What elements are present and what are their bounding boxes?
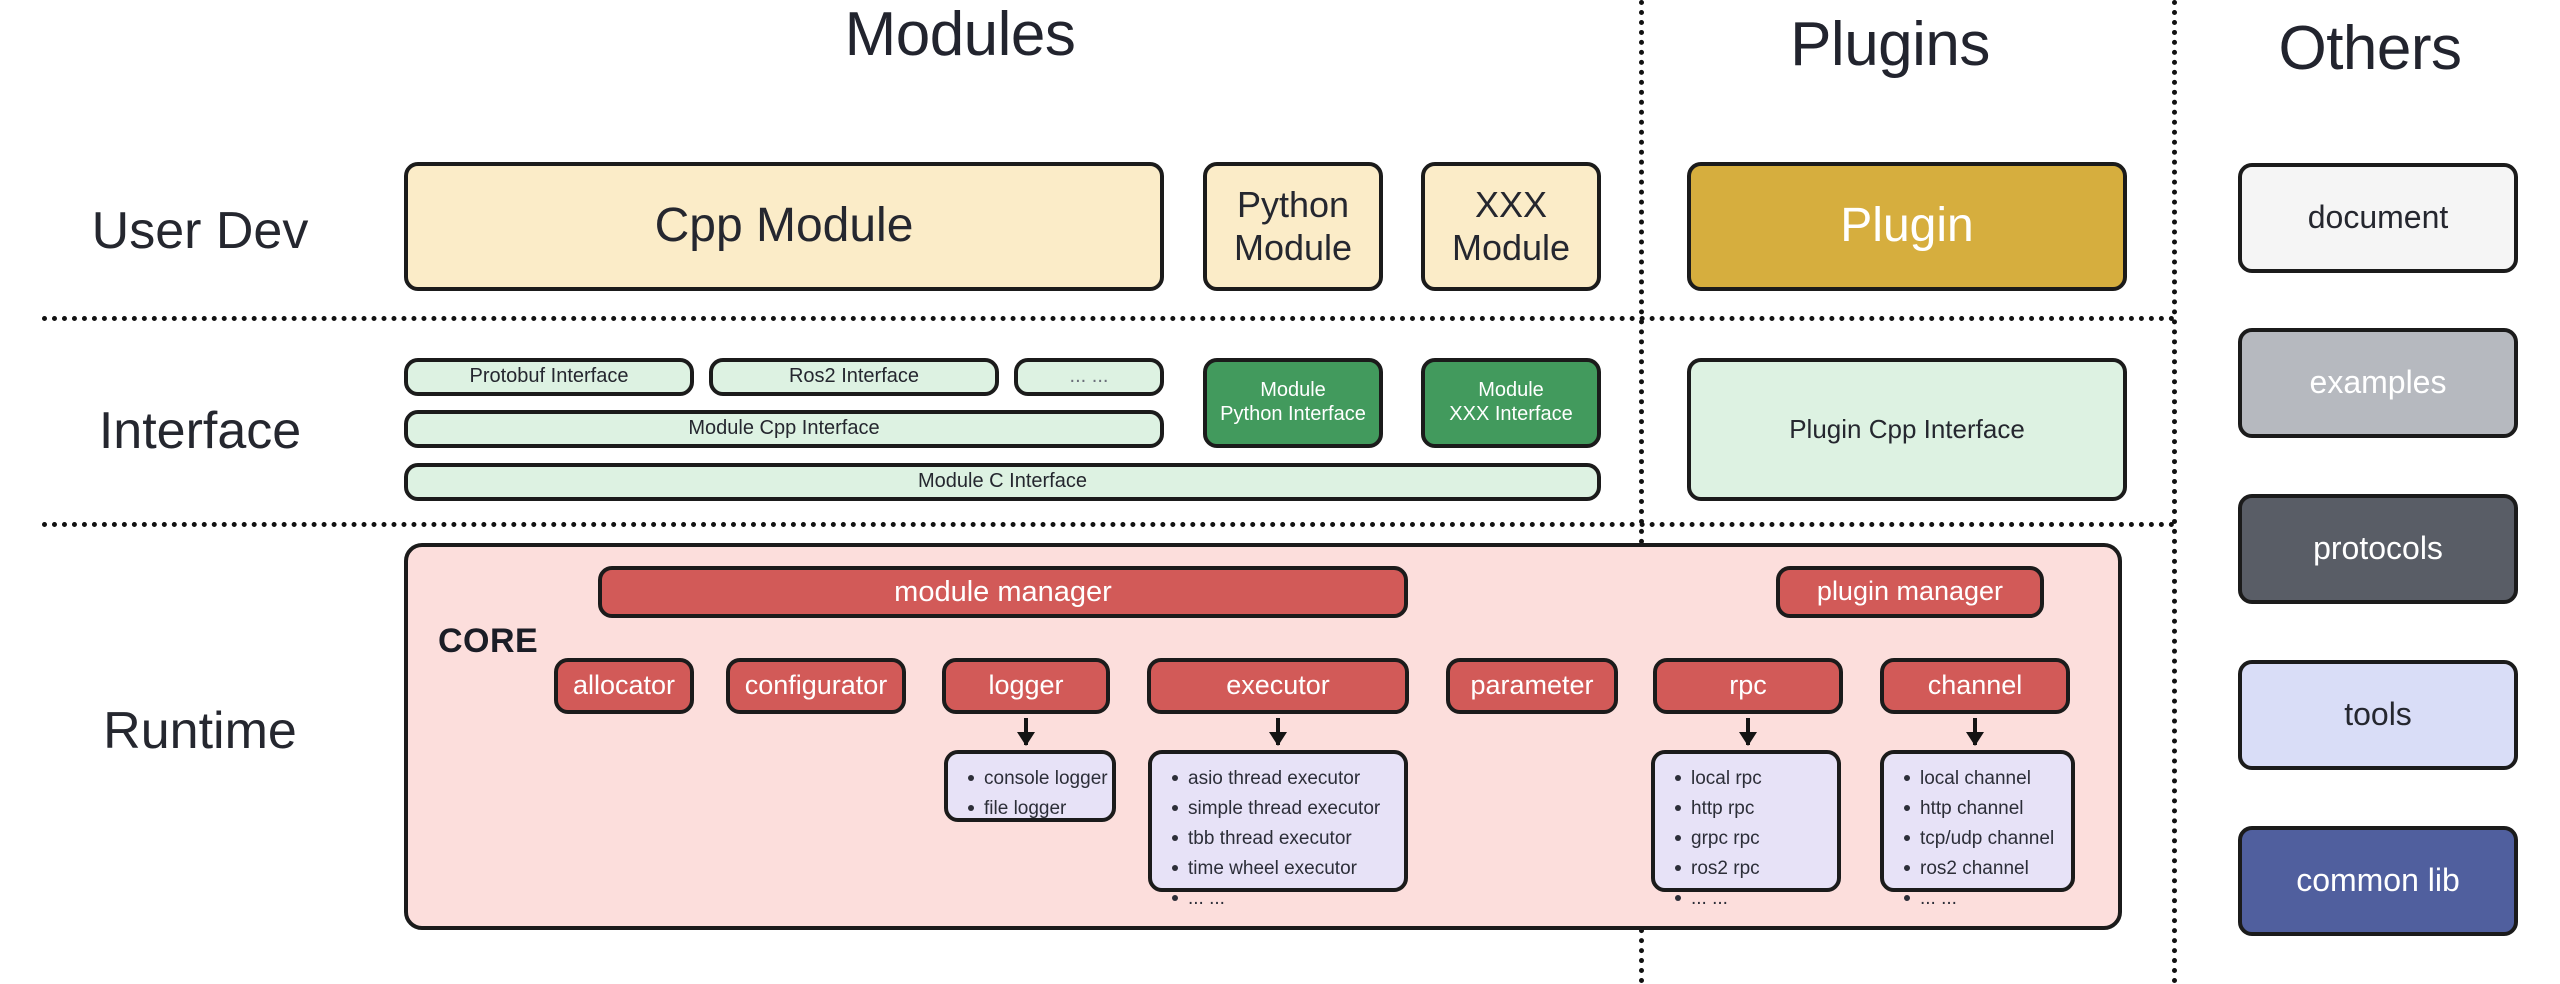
- divider-plugins-others: [2172, 0, 2177, 984]
- node-configurator-label: configurator: [739, 670, 894, 702]
- node-module-xxx-interface-label-line1: Module: [1472, 379, 1550, 403]
- divider-user-dev-interface: [42, 316, 2176, 321]
- list-item: http channel: [1920, 794, 2071, 824]
- node-protobuf-interface-label: Protobuf Interface: [464, 365, 635, 389]
- column-title-modules: Modules: [760, 4, 1160, 66]
- list-item: file logger: [984, 794, 1112, 824]
- node-configurator[interactable]: configurator: [726, 658, 906, 714]
- node-logger-label: logger: [982, 670, 1069, 702]
- node-module-c-interface-label: Module C Interface: [912, 470, 1093, 494]
- node-allocator[interactable]: allocator: [554, 658, 694, 714]
- list-item: local channel: [1920, 764, 2071, 794]
- node-plugin[interactable]: Plugin: [1687, 162, 2127, 291]
- arrow-executor-down-icon: [1276, 718, 1280, 745]
- node-module-manager-label: module manager: [888, 575, 1118, 609]
- node-module-cpp-interface[interactable]: Module Cpp Interface: [404, 410, 1164, 448]
- node-parameter-label: parameter: [1464, 670, 1599, 702]
- detail-box-executor: asio thread executor simple thread execu…: [1148, 750, 1408, 892]
- node-logger[interactable]: logger: [942, 658, 1110, 714]
- node-module-c-interface[interactable]: Module C Interface: [404, 463, 1601, 501]
- node-channel[interactable]: channel: [1880, 658, 2070, 714]
- node-others-document[interactable]: document: [2238, 163, 2518, 273]
- logger-item-list: console logger file logger: [962, 764, 1112, 824]
- node-others-examples[interactable]: examples: [2238, 328, 2518, 438]
- node-rpc-label: rpc: [1723, 670, 1773, 702]
- node-others-tools[interactable]: tools: [2238, 660, 2518, 770]
- node-executor-label: executor: [1220, 670, 1336, 702]
- node-others-common-lib-label: common lib: [2290, 862, 2466, 900]
- node-module-python-interface-label-line1: Module: [1254, 379, 1332, 403]
- list-item: http rpc: [1691, 794, 1837, 824]
- node-module-python-interface[interactable]: Module Python Interface: [1203, 358, 1383, 448]
- node-plugin-manager[interactable]: plugin manager: [1776, 566, 2044, 618]
- node-module-xxx-interface[interactable]: Module XXX Interface: [1421, 358, 1601, 448]
- node-others-tools-label: tools: [2338, 696, 2418, 734]
- core-label: CORE: [438, 622, 538, 661]
- node-others-examples-label: examples: [2304, 364, 2453, 402]
- arrow-logger-down-icon: [1024, 718, 1028, 745]
- list-item: ... ...: [1691, 884, 1837, 914]
- node-others-document-label: document: [2302, 199, 2455, 237]
- detail-box-channel: local channel http channel tcp/udp chann…: [1880, 750, 2075, 892]
- list-item: tcp/udp channel: [1920, 824, 2071, 854]
- node-protobuf-interface[interactable]: Protobuf Interface: [404, 358, 694, 396]
- channel-item-list: local channel http channel tcp/udp chann…: [1898, 764, 2071, 914]
- list-item: simple thread executor: [1188, 794, 1404, 824]
- node-others-protocols[interactable]: protocols: [2238, 494, 2518, 604]
- executor-item-list: asio thread executor simple thread execu…: [1166, 764, 1404, 914]
- list-item: asio thread executor: [1188, 764, 1404, 794]
- node-module-xxx-interface-label-line2: XXX Interface: [1443, 403, 1578, 427]
- detail-box-logger: console logger file logger: [944, 750, 1116, 822]
- node-xxx-module-label-line2: Module: [1446, 227, 1576, 269]
- node-xxx-module-label-line1: XXX: [1469, 184, 1553, 226]
- list-item: console logger: [984, 764, 1112, 794]
- node-module-cpp-interface-label: Module Cpp Interface: [682, 417, 885, 441]
- node-channel-label: channel: [1922, 670, 2029, 702]
- list-item: local rpc: [1691, 764, 1837, 794]
- column-title-others: Others: [2200, 18, 2540, 80]
- node-ellipsis-interface-label: ... ...: [1064, 365, 1115, 389]
- node-ellipsis-interface[interactable]: ... ...: [1014, 358, 1164, 396]
- list-item: time wheel executor: [1188, 854, 1404, 884]
- node-executor[interactable]: executor: [1147, 658, 1409, 714]
- detail-box-rpc: local rpc http rpc grpc rpc ros2 rpc ...…: [1651, 750, 1841, 892]
- list-item: tbb thread executor: [1188, 824, 1404, 854]
- node-python-module[interactable]: Python Module: [1203, 162, 1383, 291]
- node-others-common-lib[interactable]: common lib: [2238, 826, 2518, 936]
- node-python-module-label-line1: Python: [1231, 184, 1355, 226]
- node-allocator-label: allocator: [567, 670, 681, 702]
- list-item: ... ...: [1188, 884, 1404, 914]
- node-parameter[interactable]: parameter: [1446, 658, 1618, 714]
- node-rpc[interactable]: rpc: [1653, 658, 1843, 714]
- row-label-user-dev: User Dev: [0, 205, 400, 257]
- list-item: grpc rpc: [1691, 824, 1837, 854]
- row-label-interface: Interface: [0, 405, 400, 457]
- node-plugin-cpp-interface[interactable]: Plugin Cpp Interface: [1687, 358, 2127, 501]
- node-python-module-label-line2: Module: [1228, 227, 1358, 269]
- node-xxx-module[interactable]: XXX Module: [1421, 162, 1601, 291]
- row-label-runtime: Runtime: [0, 705, 400, 757]
- divider-interface-runtime: [42, 522, 2176, 527]
- node-module-python-interface-label-line2: Python Interface: [1214, 403, 1372, 427]
- node-module-manager[interactable]: module manager: [598, 566, 1408, 618]
- rpc-item-list: local rpc http rpc grpc rpc ros2 rpc ...…: [1669, 764, 1837, 914]
- list-item: ros2 rpc: [1691, 854, 1837, 884]
- column-title-plugins: Plugins: [1700, 14, 2080, 76]
- arrow-rpc-down-icon: [1746, 718, 1750, 745]
- node-cpp-module[interactable]: Cpp Module: [404, 162, 1164, 291]
- node-others-protocols-label: protocols: [2307, 530, 2449, 568]
- node-plugin-manager-label: plugin manager: [1811, 576, 2009, 608]
- node-cpp-module-label: Cpp Module: [649, 198, 920, 255]
- node-plugin-cpp-interface-label: Plugin Cpp Interface: [1783, 414, 2031, 445]
- node-ros2-interface[interactable]: Ros2 Interface: [709, 358, 999, 396]
- node-plugin-label: Plugin: [1834, 198, 1979, 255]
- arrow-channel-down-icon: [1973, 718, 1977, 745]
- architecture-diagram: Modules Plugins Others User Dev Interfac…: [0, 0, 2560, 984]
- list-item: ... ...: [1920, 884, 2071, 914]
- node-ros2-interface-label: Ros2 Interface: [783, 365, 925, 389]
- list-item: ros2 channel: [1920, 854, 2071, 884]
